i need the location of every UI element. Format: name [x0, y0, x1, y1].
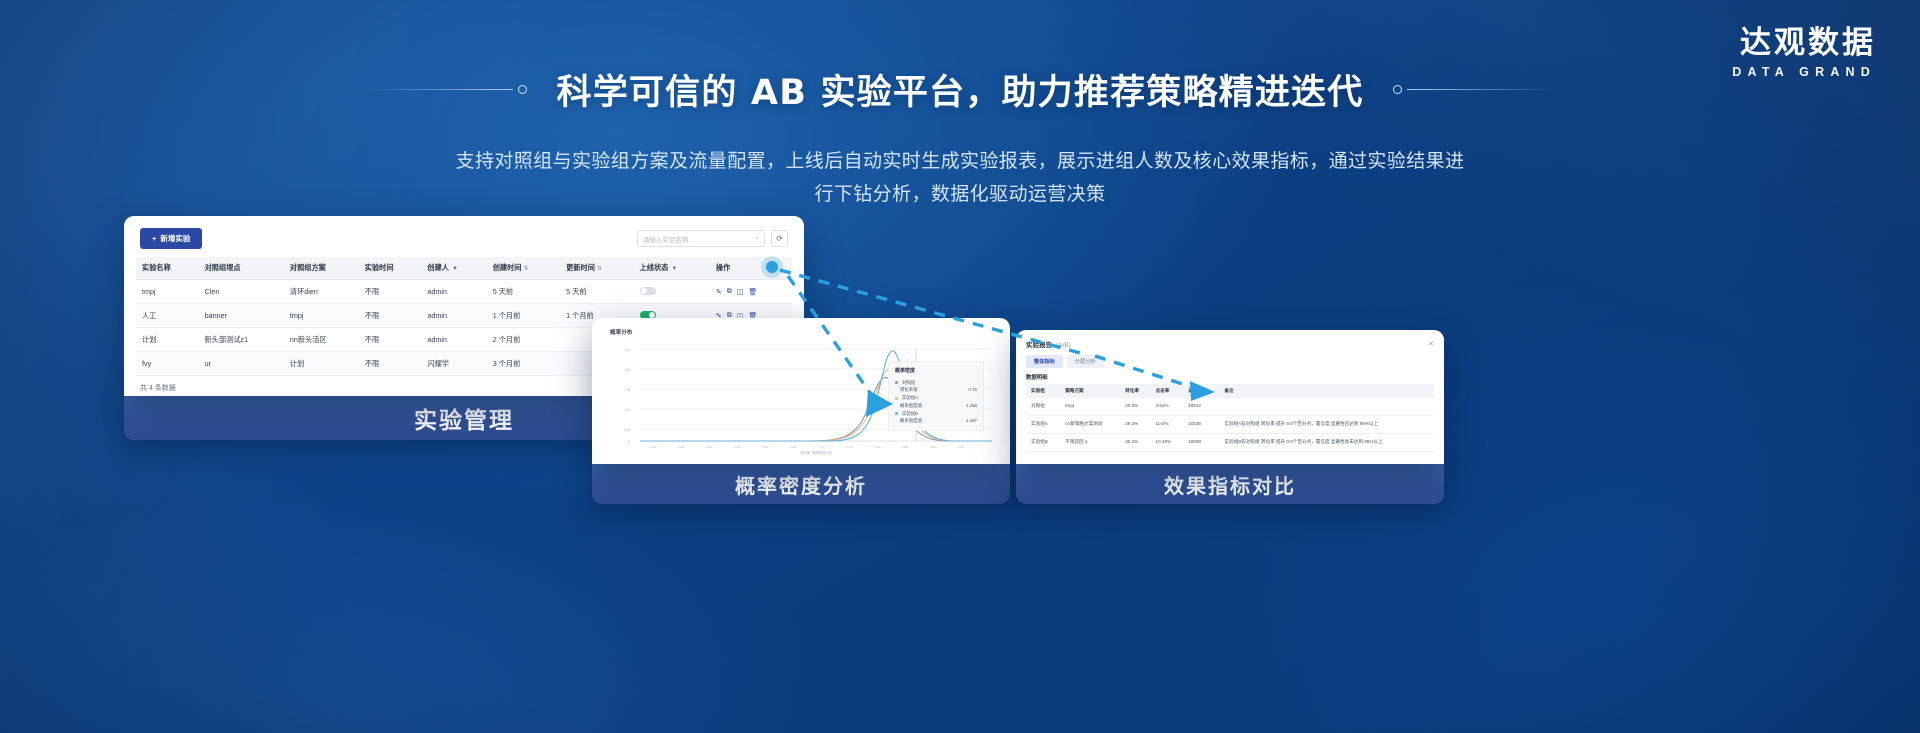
- filter-icon[interactable]: ▼: [452, 266, 458, 272]
- cell-ctr: 10.0%: [1151, 415, 1184, 433]
- cell-experiment-time: 不限: [359, 352, 422, 376]
- svg-text:转化率 / 概率密度分布: 转化率 / 概率密度分布: [800, 450, 831, 455]
- copy-icon[interactable]: ⧉: [727, 288, 732, 296]
- svg-text:0.300: 0.300: [706, 445, 713, 449]
- panel-probability-density: 概率分布 2.5 2.0 1.5 1.0 0.5 0: [592, 318, 1010, 504]
- tooltip-group-metric: 转化率值 0.76: [895, 386, 977, 394]
- cell-note: [1219, 398, 1434, 415]
- metric-table: 实验组 策略方案 转化率 点击率 进组人数 备注 对照组 tmpj 20.2% …: [1026, 384, 1434, 452]
- headline-row: 科学可信的 AB 实验平台，助力推荐策略精进迭代: [0, 64, 1920, 115]
- col-update-time[interactable]: 更新时间⇅: [560, 257, 633, 280]
- svg-text:0.850: 0.850: [902, 445, 909, 449]
- cell-control-plan: nn新头活区: [284, 328, 359, 352]
- tab-segment-analysis[interactable]: 分层分析: [1067, 355, 1104, 368]
- cell-control-track: ur: [199, 352, 284, 376]
- col-cvr: 转化率: [1120, 384, 1150, 398]
- cell-cvr: 20.2%: [1120, 398, 1150, 415]
- cell-creator: admin: [421, 280, 486, 304]
- cell-creator: 闪耀学: [421, 352, 486, 376]
- legend-dot-icon: [895, 381, 898, 384]
- page-title: 科学可信的 AB 实验平台，助力推荐策略精进迭代: [557, 64, 1364, 115]
- decoration-line-right: [1407, 89, 1555, 91]
- tooltip-group: 实验组A 概率密度值 1.258: [895, 394, 977, 409]
- cell-group: 实验组A: [1026, 415, 1060, 433]
- density-chart: 2.5 2.0 1.5 1.0 0.5 0 0.1000.2000.300: [600, 337, 1002, 457]
- report-title-text: 实验报告: [1026, 342, 1052, 349]
- headline-decoration-left: [365, 85, 527, 94]
- page-subtitle-line-1: 支持对照组与实验组方案及流量配置，上线后自动实时生成实验报表，展示进组人数及核心…: [250, 145, 1670, 178]
- cell-experiment-name: fvy: [136, 352, 199, 376]
- col-group: 实验组: [1026, 384, 1060, 398]
- cell-control-plan: 计划: [284, 352, 359, 376]
- cell-users: 10008: [1183, 433, 1219, 451]
- close-icon[interactable]: ✕: [1428, 340, 1434, 348]
- report-icon[interactable]: ◫: [737, 288, 744, 296]
- cell-experiment-time: 不限: [359, 328, 422, 352]
- delete-icon[interactable]: 🗑: [748, 288, 757, 296]
- col-plan: 策略方案: [1060, 384, 1120, 398]
- cell-experiment-name: tmpj: [136, 280, 199, 304]
- edit-icon[interactable]: ✎: [716, 288, 722, 296]
- cell-control-plan: 清环dien: [284, 280, 359, 304]
- col-control-track[interactable]: 对照组埋点: [199, 257, 284, 280]
- cell-experiment-name: 人工: [136, 304, 199, 328]
- tooltip-metric-label: 概率密度值: [900, 417, 922, 425]
- col-create-time-label: 创建时间: [493, 263, 522, 272]
- col-note: 备注: [1219, 384, 1434, 398]
- svg-text:0.400: 0.400: [734, 445, 741, 449]
- decoration-dot-left: [518, 85, 527, 94]
- table-header-row: 实验名称 对照组埋点 对照组方案 实验时间 创建人▼ 创建时间⇅ 更新时间⇅ 上…: [136, 257, 792, 280]
- legend-dot-icon: [895, 397, 898, 400]
- tooltip-group-name: 实验组A: [902, 394, 918, 402]
- tooltip-group: 对照组 转化率值 0.76: [895, 379, 977, 394]
- cell-experiment-time: 不限: [359, 280, 422, 304]
- svg-text:0.750: 0.750: [846, 445, 853, 449]
- tooltip-group-header: 实验组A: [895, 394, 977, 402]
- screenshot-density-chart: 概率分布 2.5 2.0 1.5 1.0 0.5 0: [592, 318, 1010, 464]
- cell-create-time: 5 天前: [487, 280, 560, 304]
- decoration-dot-right: [1393, 85, 1402, 94]
- table-row: 实验组B 不限召回 2 20.2% 10.49% 10008 实验组B较对照组 …: [1026, 433, 1434, 451]
- cell-users: 10812: [1183, 398, 1219, 415]
- cell-note: 实验组B较对照组 转化率 提升 0.0个百分点，置信度 显著性尚未达到 95%以…: [1219, 433, 1434, 451]
- col-ctr: 点击率: [1151, 384, 1184, 398]
- svg-text:0.100: 0.100: [650, 445, 657, 449]
- sort-icon[interactable]: ⇅: [523, 266, 528, 272]
- tooltip-group-header: 对照组: [895, 379, 977, 387]
- col-creator-label: 创建人: [427, 263, 449, 272]
- col-experiment-time[interactable]: 实验时间: [359, 257, 422, 280]
- cell-update-time: 5 天前: [560, 280, 633, 304]
- table-row: 实验组A cn新策略文案测试 29.2% 10.0% 10236 实验组A较对照…: [1026, 415, 1434, 433]
- experiment-toolbar: + 新增实验 请输入实验名称 ⌕ ⟳: [136, 226, 792, 257]
- col-online-status[interactable]: 上线状态▼: [634, 257, 710, 280]
- panel-metric-comparison: 实验报告(A/B) ✕ 整体指标 分层分析 数据明细 实验组 策略方案 转化率 …: [1016, 330, 1444, 504]
- search-icon: ⌕: [755, 235, 759, 243]
- cell-creator: admin: [421, 304, 486, 328]
- cell-control-track: 新头部测试z1: [199, 328, 284, 352]
- refresh-icon[interactable]: ⟳: [771, 230, 788, 247]
- tooltip-group-name: 对照组: [902, 379, 915, 387]
- svg-text:0.800: 0.800: [874, 445, 881, 449]
- headline-decoration-right: [1393, 85, 1555, 94]
- svg-text:0.600: 0.600: [790, 445, 797, 449]
- cell-group: 对照组: [1026, 398, 1060, 415]
- svg-text:1.5: 1.5: [624, 387, 630, 392]
- new-experiment-button[interactable]: + 新增实验: [140, 228, 202, 249]
- col-users: 进组人数: [1183, 384, 1219, 398]
- report-section-title: 数据明细: [1026, 373, 1434, 381]
- plus-icon: +: [152, 234, 156, 243]
- svg-text:0.5: 0.5: [624, 427, 630, 432]
- tooltip-group: 实验组B 概率密度值 1.487: [895, 410, 977, 425]
- cell-note: 实验组A较对照组 转化率 提升 9.0个百分点，置信度 显著性已达到 95%以上: [1219, 415, 1434, 433]
- col-control-plan[interactable]: 对照组方案: [284, 257, 359, 280]
- page-subtitle-line-2: 行下钻分析，数据化驱动运营决策: [250, 178, 1670, 211]
- cell-ctr: 4.51%: [1151, 398, 1184, 415]
- cell-control-track: banner: [199, 304, 284, 328]
- svg-text:2.0: 2.0: [624, 367, 630, 372]
- col-create-time[interactable]: 创建时间⇅: [487, 257, 560, 280]
- brand-name-cn: 达观数据: [1732, 26, 1876, 61]
- chart-title: 概率分布: [600, 326, 1002, 337]
- svg-text:0.200: 0.200: [678, 445, 685, 449]
- row-action-group: ✎ ⧉ ◫ 🗑: [716, 288, 786, 296]
- col-update-time-label: 更新时间: [566, 263, 595, 272]
- tooltip-group-metric: 概率密度值 1.487: [895, 417, 977, 425]
- cell-cvr: 29.2%: [1120, 415, 1150, 433]
- cell-control-track: Clen: [199, 280, 284, 304]
- svg-text:2.5: 2.5: [624, 347, 630, 352]
- filter-icon[interactable]: ▼: [671, 266, 677, 272]
- metric-table-body: 对照组 tmpj 20.2% 4.51% 10812 实验组A cn新策略文案测…: [1026, 398, 1434, 451]
- panel-caption-probability-density: 概率密度分析: [592, 464, 1010, 504]
- report-title: 实验报告(A/B): [1026, 339, 1071, 349]
- cell-creator: admin: [421, 328, 486, 352]
- svg-text:0.700: 0.700: [818, 445, 825, 449]
- cell-actions: ✎ ⧉ ◫ 🗑: [710, 280, 792, 304]
- cell-control-plan: tmpj: [284, 304, 359, 328]
- cell-plan: cn新策略文案测试: [1060, 415, 1120, 433]
- cell-users: 10236: [1183, 415, 1219, 433]
- cell-ctr: 10.49%: [1151, 433, 1184, 451]
- col-online-status-label: 上线状态: [640, 263, 669, 272]
- tooltip-metric-label: 概率密度值: [900, 402, 922, 410]
- tooltip-metric-value: 1.258: [966, 402, 977, 410]
- sort-icon[interactable]: ⇅: [597, 266, 602, 272]
- table-header-row: 实验组 策略方案 转化率 点击率 进组人数 备注: [1026, 384, 1434, 398]
- svg-text:1.0: 1.0: [624, 407, 630, 412]
- legend-dot-icon: [895, 412, 898, 415]
- svg-text:0: 0: [628, 439, 631, 444]
- tooltip-group-header: 实验组B: [895, 410, 977, 418]
- experiment-table-head: 实验名称 对照组埋点 对照组方案 实验时间 创建人▼ 创建时间⇅ 更新时间⇅ 上…: [136, 257, 792, 280]
- chart-tooltip: 概率密度 对照组 转化率值 0.76 实验组A: [888, 361, 984, 431]
- cell-online-toggle[interactable]: [634, 280, 710, 304]
- tooltip-metric-value: 1.487: [966, 417, 977, 425]
- screenshot-report-drawer: 实验报告(A/B) ✕ 整体指标 分层分析 数据明细 实验组 策略方案 转化率 …: [1016, 330, 1444, 464]
- tab-overall-metrics[interactable]: 整体指标: [1026, 355, 1063, 368]
- cell-create-time: 2 个月前: [487, 328, 560, 352]
- tooltip-group-name: 实验组B: [902, 410, 918, 418]
- search-input[interactable]: 请输入实验名称 ⌕: [637, 230, 765, 247]
- report-header: 实验报告(A/B) ✕: [1026, 339, 1434, 349]
- table-row: 对照组 tmpj 20.2% 4.51% 10812: [1026, 398, 1434, 415]
- cell-group: 实验组B: [1026, 433, 1060, 451]
- cell-plan: 不限召回 2: [1060, 433, 1120, 451]
- toolbar-right-tools: 请输入实验名称 ⌕ ⟳: [637, 230, 788, 247]
- metric-table-head: 实验组 策略方案 转化率 点击率 进组人数 备注: [1026, 384, 1434, 398]
- online-toggle[interactable]: [640, 287, 656, 295]
- table-row[interactable]: tmpj Clen 清环dien 不限 admin 5 天前 5 天前 ✎ ⧉ …: [136, 280, 792, 304]
- cell-experiment-name: 计划: [136, 328, 199, 352]
- report-title-sub: (A/B): [1056, 342, 1071, 349]
- page-subtitle: 支持对照组与实验组方案及流量配置，上线后自动实时生成实验报表，展示进组人数及核心…: [250, 145, 1670, 210]
- cell-cvr: 20.2%: [1120, 433, 1150, 451]
- new-experiment-label: 新增实验: [160, 233, 190, 244]
- col-creator[interactable]: 创建人▼: [421, 257, 486, 280]
- decoration-line-left: [365, 89, 513, 91]
- search-placeholder: 请输入实验名称: [643, 234, 689, 244]
- svg-text:0.900: 0.900: [930, 445, 937, 449]
- tooltip-metric-label: 转化率值: [900, 386, 918, 394]
- tooltip-group-metric: 概率密度值 1.258: [895, 402, 977, 410]
- col-experiment-name[interactable]: 实验名称: [136, 257, 199, 280]
- report-tabs: 整体指标 分层分析: [1026, 355, 1434, 368]
- svg-text:0.500: 0.500: [762, 445, 769, 449]
- cell-create-time: 1 个月前: [487, 304, 560, 328]
- panel-caption-metric-comparison: 效果指标对比: [1016, 464, 1444, 504]
- svg-text:0.950: 0.950: [958, 445, 965, 449]
- tooltip-title: 概率密度: [895, 367, 977, 376]
- col-actions: 操作: [710, 257, 792, 280]
- tooltip-metric-value: 0.76: [968, 386, 977, 394]
- cell-create-time: 3 个月前: [487, 352, 560, 376]
- cell-experiment-time: 不限: [359, 304, 422, 328]
- cell-plan: tmpj: [1060, 398, 1120, 415]
